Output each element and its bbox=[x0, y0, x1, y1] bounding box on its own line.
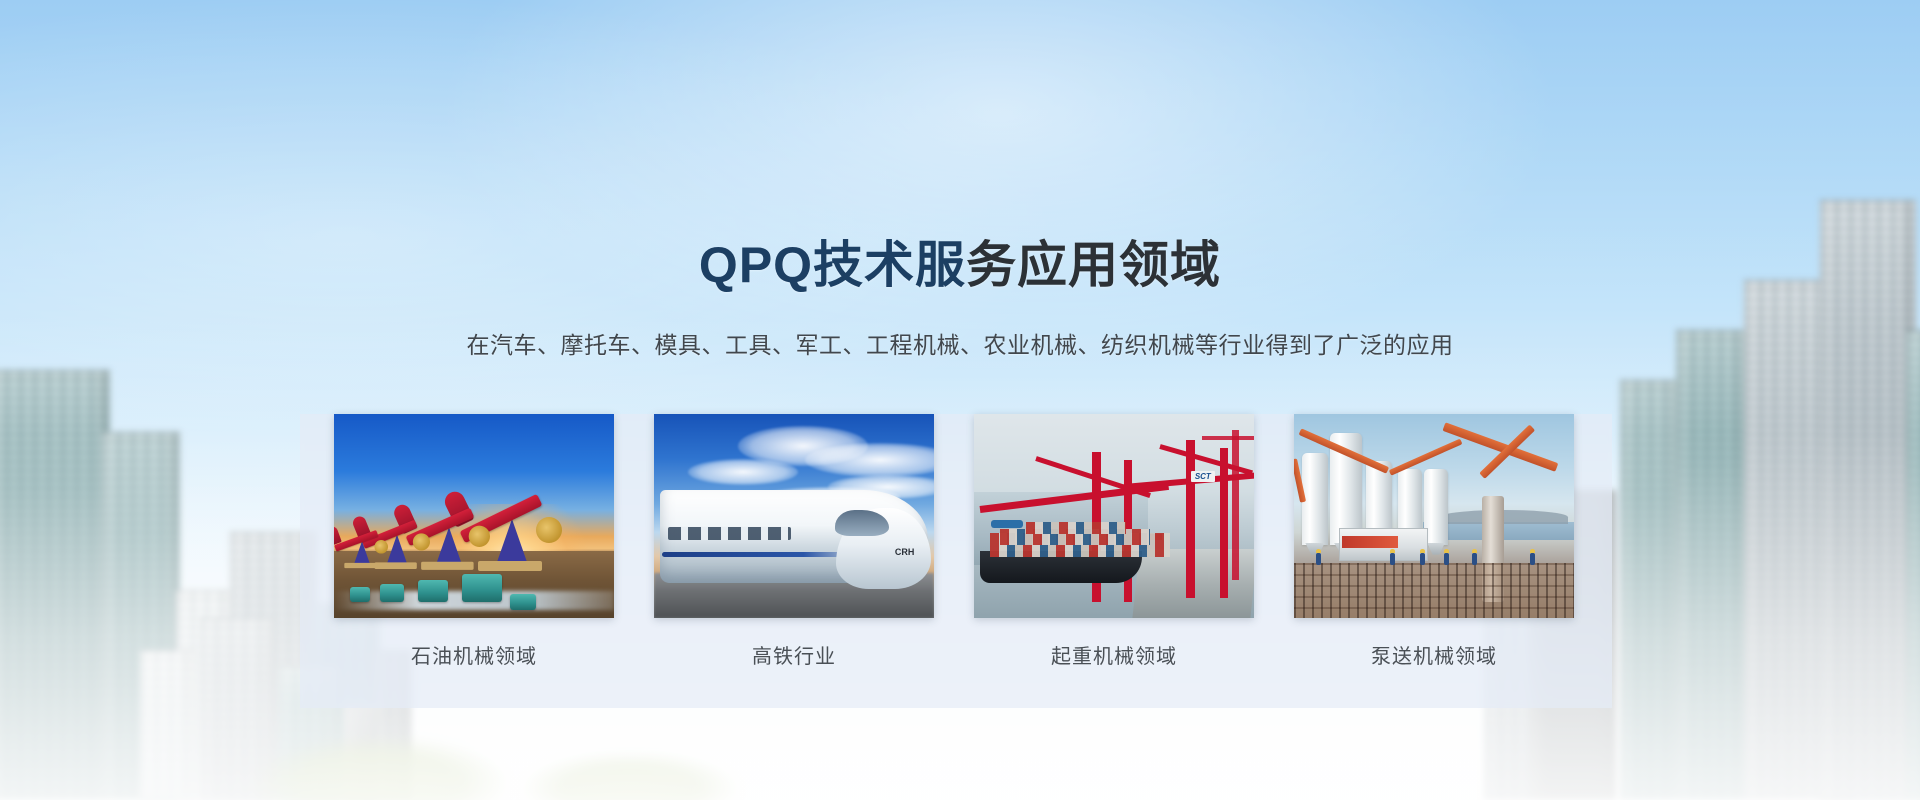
card-lifting-machinery[interactable]: SCT 起重机械领域 bbox=[974, 414, 1254, 669]
card-caption: 高铁行业 bbox=[654, 640, 934, 669]
application-fields-panel: 石油机械领域 bbox=[300, 414, 1612, 708]
application-cards-list: 石油机械领域 bbox=[300, 414, 1612, 708]
card-oil-machinery[interactable]: 石油机械领域 bbox=[334, 414, 614, 669]
card-caption: 泵送机械领域 bbox=[1294, 640, 1574, 669]
oil-pumpjacks-photo[interactable] bbox=[334, 414, 614, 618]
crane-operator-badge: SCT bbox=[1191, 471, 1215, 482]
card-caption: 石油机械领域 bbox=[334, 640, 614, 669]
page-title-rest: 务应用领域 bbox=[966, 237, 1221, 293]
high-speed-train-photo[interactable]: CRH bbox=[654, 414, 934, 618]
card-caption: 起重机械领域 bbox=[974, 640, 1254, 669]
concrete-pump-photo[interactable] bbox=[1294, 414, 1574, 618]
card-high-speed-rail[interactable]: CRH 高铁行业 bbox=[654, 414, 934, 669]
port-gantry-crane-photo[interactable]: SCT bbox=[974, 414, 1254, 618]
train-badge: CRH bbox=[895, 547, 915, 557]
page-subtitle: 在汽车、摩托车、模具、工具、军工、工程机械、农业机械、纺织机械等行业得到了广泛的… bbox=[0, 326, 1920, 360]
hero-banner: QPQ技术服务应用领域 在汽车、摩托车、模具、工具、军工、工程机械、农业机械、纺… bbox=[0, 0, 1920, 800]
page-title: QPQ技术服务应用领域 bbox=[0, 240, 1920, 290]
card-pumping-machinery[interactable]: 泵送机械领域 bbox=[1294, 414, 1574, 669]
page-title-highlight: QPQ技术服 bbox=[699, 237, 966, 293]
